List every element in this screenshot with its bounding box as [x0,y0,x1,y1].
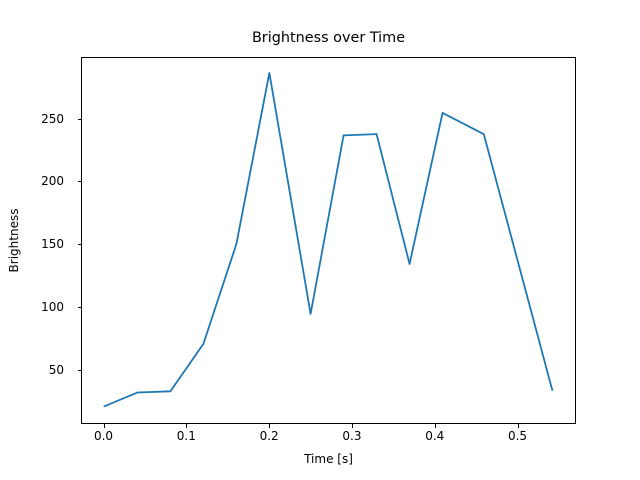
x-tick-mark [352,424,353,428]
chart-title: Brightness over Time [81,30,576,47]
y-tick-mark [78,244,82,245]
y-tick-mark [78,181,82,182]
x-tick-mark [186,424,187,428]
x-tick-mark [104,424,105,428]
x-tick-label: 0.5 [488,429,548,443]
y-tick-label: 100 [0,300,70,314]
brightness-line-series [104,73,552,406]
data-line-svg [82,58,575,423]
x-axis-label: Time [s] [81,452,576,466]
x-tick-label: 0.4 [405,429,465,443]
x-tick-label: 0.0 [74,429,134,443]
y-tick-label: 200 [0,174,70,188]
figure-canvas: Brightness over Time Brightness 0.00.10.… [0,0,640,480]
y-tick-mark [78,307,82,308]
y-tick-label: 50 [0,363,70,377]
y-tick-label: 150 [0,237,70,251]
y-tick-mark [78,370,82,371]
y-tick-label: 250 [0,112,70,126]
plot-area [81,57,576,424]
x-tick-label: 0.2 [239,429,299,443]
x-tick-label: 0.1 [156,429,216,443]
x-tick-label: 0.3 [322,429,382,443]
y-tick-mark [78,119,82,120]
x-tick-mark [269,424,270,428]
x-tick-mark [435,424,436,428]
x-tick-mark [518,424,519,428]
